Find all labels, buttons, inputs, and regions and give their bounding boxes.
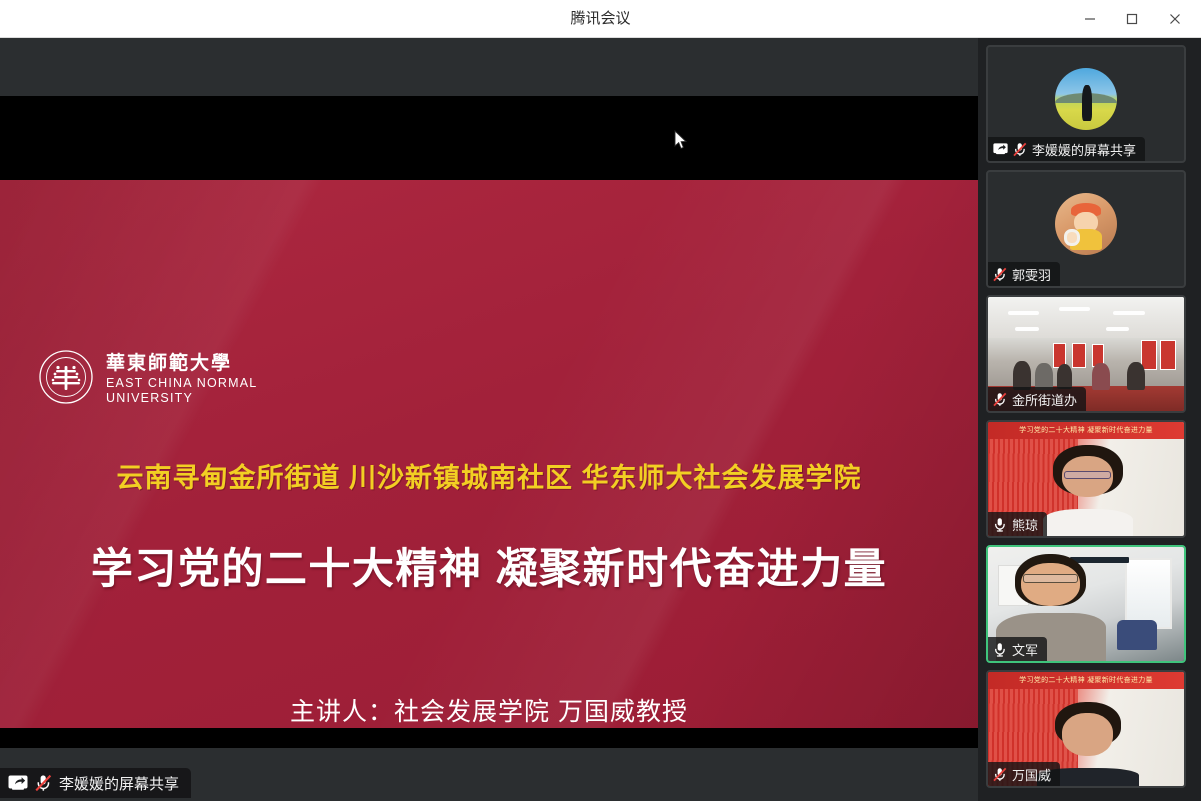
video-banner-text: 学习党的二十大精神 凝聚新时代奋进力量 [988, 672, 1184, 689]
video-banner-text: 学习党的二十大精神 凝聚新时代奋进力量 [988, 422, 1184, 439]
mouse-pointer-icon [674, 130, 688, 150]
ecnu-seal-icon [38, 349, 94, 405]
participant-tile[interactable]: 学习党的二十大精神 凝聚新时代奋进力量 熊琼 [986, 420, 1186, 538]
shared-screen-stage[interactable]: 華東師範大學 EAST CHINA NORMAL UNIVERSITY 云南寻甸… [0, 38, 978, 801]
avatar-photo-rapeseed-field [1055, 68, 1117, 130]
tile-badge: 万国威 [988, 762, 1060, 786]
logo-chinese-name: 華東師範大學 [106, 348, 257, 375]
participant-name: 郭雯羽 [1012, 265, 1051, 284]
mic-unmuted-icon [993, 642, 1007, 657]
screen-share-icon [993, 143, 1008, 155]
participant-tile[interactable]: 学习党的二十大精神 凝聚新时代奋进力量 万国威 [986, 670, 1186, 788]
slide-background-overlay [0, 180, 978, 728]
stage-bottom-strip: 李媛媛的屏幕共享 [0, 748, 978, 801]
maximize-button[interactable] [1112, 0, 1152, 38]
minimize-button[interactable] [1070, 0, 1110, 38]
mic-muted-icon [993, 392, 1007, 407]
participant-tile[interactable]: 金所街道办 [986, 295, 1186, 413]
mic-unmuted-icon [993, 517, 1007, 532]
screen-share-icon [8, 775, 28, 791]
close-button[interactable] [1155, 0, 1195, 38]
mic-muted-icon [993, 267, 1007, 282]
mic-muted-icon [1013, 142, 1027, 157]
shared-slide: 華東師範大學 EAST CHINA NORMAL UNIVERSITY 云南寻甸… [0, 180, 978, 728]
participant-tile[interactable]: 郭雯羽 [986, 170, 1186, 288]
tile-badge: 熊琼 [988, 512, 1047, 536]
participant-name: 熊琼 [1012, 515, 1038, 534]
screen-share-owner-name: 李媛媛的屏幕共享 [59, 773, 179, 794]
avatar-cartoon-character [1055, 193, 1117, 255]
close-icon [1169, 13, 1181, 25]
mic-muted-icon [993, 767, 1007, 782]
logo-english-line1: EAST CHINA NORMAL [106, 376, 257, 390]
tile-badge: 金所街道办 [988, 387, 1086, 411]
tile-badge: 文军 [988, 637, 1047, 661]
maximize-icon [1126, 13, 1138, 25]
slide-presenter: 主讲人：社会发展学院 万国威教授 [0, 692, 978, 728]
participant-name: 万国威 [1012, 765, 1051, 784]
ecnu-logo-lockup: 華東師範大學 EAST CHINA NORMAL UNIVERSITY [38, 348, 257, 405]
participant-name: 金所街道办 [1012, 390, 1077, 409]
tile-badge: 郭雯羽 [988, 262, 1060, 286]
participant-tile[interactable]: 李媛媛的屏幕共享 [986, 45, 1186, 163]
avatar [1055, 68, 1117, 130]
participant-name: 文军 [1012, 640, 1038, 659]
participant-tile[interactable]: 文军 [986, 545, 1186, 663]
slide-subheading: 云南寻甸金所街道 川沙新镇城南社区 华东师大社会发展学院 [0, 456, 978, 495]
tencent-meeting-window: 腾讯会议 [0, 0, 1201, 801]
minimize-icon [1084, 13, 1096, 25]
window-title: 腾讯会议 [0, 0, 1201, 38]
logo-english-line2: UNIVERSITY [106, 391, 257, 405]
window-titlebar: 腾讯会议 [0, 0, 1201, 38]
screen-share-label: 李媛媛的屏幕共享 [0, 768, 191, 798]
mic-muted-icon [35, 774, 52, 792]
avatar [1055, 193, 1117, 255]
participant-rail[interactable]: 李媛媛的屏幕共享 郭雯羽 [978, 38, 1201, 801]
slide-title: 学习党的二十大精神 凝聚新时代奋进力量 [0, 535, 978, 596]
participant-name: 李媛媛的屏幕共享 [1032, 140, 1136, 159]
tile-badge: 李媛媛的屏幕共享 [988, 137, 1145, 161]
